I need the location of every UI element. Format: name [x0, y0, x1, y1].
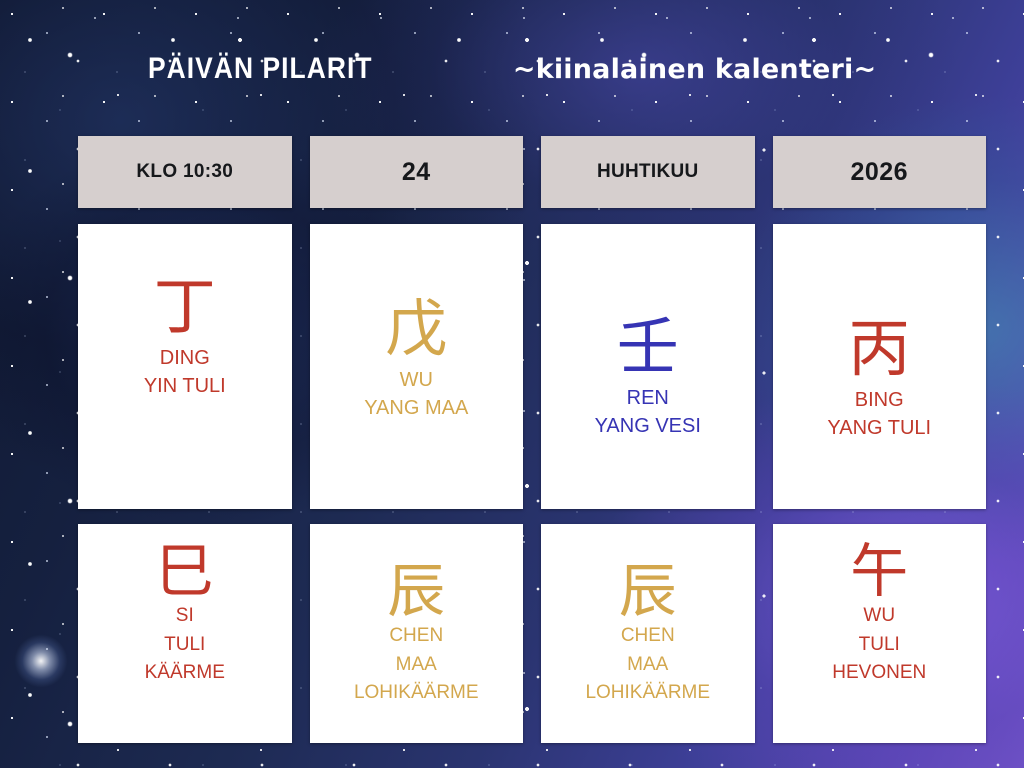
stem-card-day[interactable]: 戊 WU YANG MAA	[310, 224, 524, 509]
heavenly-stems-row: 丁 DING YIN TULI 戊 WU YANG MAA 壬 REN YANG…	[78, 224, 986, 509]
header-row: KLO 10:30 24 HUHTIKUU 2026	[78, 136, 986, 208]
stem-glyph-hour: 丁	[154, 276, 216, 338]
stem-pinyin-day: WU	[400, 366, 433, 394]
branch-element-month: MAA	[627, 651, 668, 680]
stem-glyph-day: 戊	[385, 298, 447, 360]
branch-animal-day: LOHIKÄÄRME	[354, 679, 479, 708]
stem-pinyin-month: REN	[627, 384, 669, 412]
header-cell-day: 24	[310, 136, 524, 208]
branch-pinyin-month: CHEN	[621, 622, 675, 651]
stem-element-day: YANG MAA	[364, 394, 468, 422]
stem-glyph-month: 壬	[617, 316, 679, 378]
branch-element-day: MAA	[396, 651, 437, 680]
branch-pinyin-day: CHEN	[389, 622, 443, 651]
chinese-calendar-poster: PÄIVÄN PILARIT ~kiinalainen kalenteri~ K…	[0, 0, 1024, 768]
branch-animal-month: LOHIKÄÄRME	[585, 679, 710, 708]
pillars-grid: KLO 10:30 24 HUHTIKUU 2026 丁 DING YIN TU…	[78, 136, 986, 743]
page-title: PÄIVÄN PILARIT	[148, 52, 373, 86]
branch-pinyin-hour: SI	[176, 602, 194, 631]
stem-glyph-year: 丙	[848, 318, 910, 380]
stem-element-year: YANG TULI	[827, 414, 931, 442]
branch-element-year: TULI	[859, 631, 900, 660]
header-cell-year: 2026	[773, 136, 987, 208]
branch-glyph-hour: 巳	[156, 542, 214, 600]
stem-card-year[interactable]: 丙 BING YANG TULI	[773, 224, 987, 509]
branch-card-hour[interactable]: 巳 SI TULI KÄÄRME	[78, 524, 292, 743]
stem-card-hour[interactable]: 丁 DING YIN TULI	[78, 224, 292, 509]
branch-card-month[interactable]: 辰 CHEN MAA LOHIKÄÄRME	[541, 524, 755, 743]
stem-pinyin-hour: DING	[160, 344, 210, 372]
branch-element-hour: TULI	[164, 631, 205, 660]
header-cell-time: KLO 10:30	[78, 136, 292, 208]
header-cell-month: HUHTIKUU	[541, 136, 755, 208]
title-bar: PÄIVÄN PILARIT ~kiinalainen kalenteri~	[0, 52, 1024, 86]
branch-glyph-year: 午	[850, 542, 908, 600]
branch-card-year[interactable]: 午 WU TULI HEVONEN	[773, 524, 987, 743]
stem-element-hour: YIN TULI	[144, 372, 226, 400]
earthly-branches-row: 巳 SI TULI KÄÄRME 辰 CHEN MAA LOHIKÄÄRME 辰…	[78, 524, 986, 743]
branch-card-day[interactable]: 辰 CHEN MAA LOHIKÄÄRME	[310, 524, 524, 743]
page-subtitle: ~kiinalainen kalenteri~	[513, 54, 876, 85]
branch-animal-hour: KÄÄRME	[145, 659, 225, 688]
stem-element-month: YANG VESI	[595, 412, 701, 440]
branch-glyph-month: 辰	[619, 562, 677, 620]
stem-pinyin-year: BING	[855, 386, 904, 414]
stem-card-month[interactable]: 壬 REN YANG VESI	[541, 224, 755, 509]
branch-glyph-day: 辰	[387, 562, 445, 620]
branch-animal-year: HEVONEN	[832, 659, 926, 688]
branch-pinyin-year: WU	[863, 602, 895, 631]
